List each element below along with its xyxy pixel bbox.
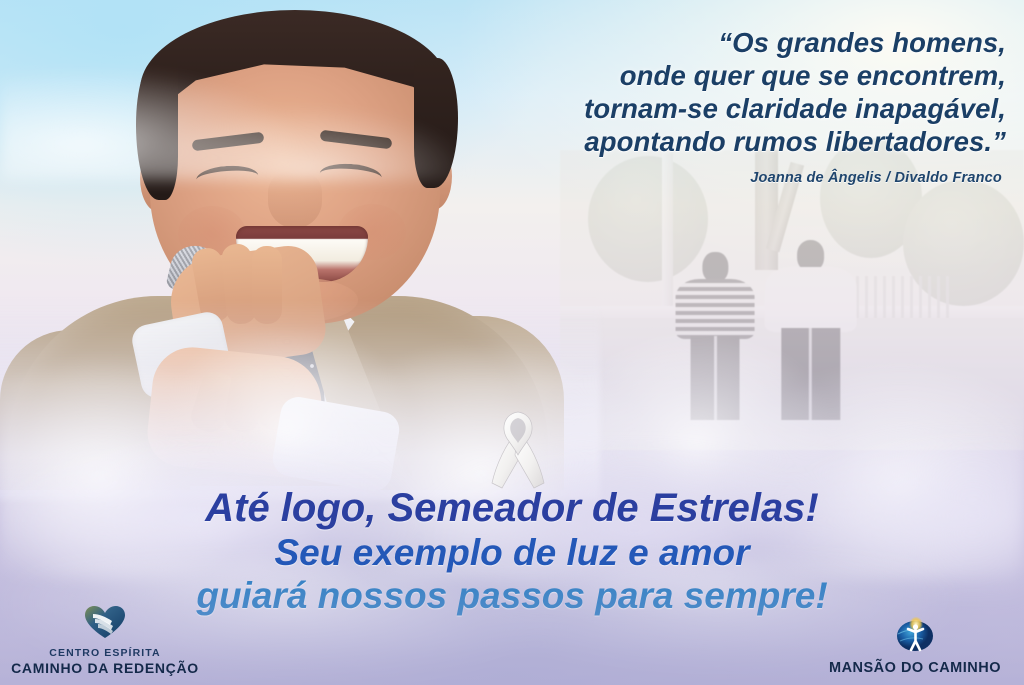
quote-text: “Os grandes homens, onde quer que se enc… <box>406 26 1006 158</box>
quote-line-3: tornam-se claridade inapagável, <box>406 92 1006 125</box>
headline-line-2: Seu exemplo de luz e amor <box>0 531 1024 574</box>
logo-left-line-2: CAMINHO DA REDENÇÃO <box>10 660 200 677</box>
figure-child <box>676 252 755 420</box>
headline: Até logo, Semeador de Estrelas! Seu exem… <box>0 486 1024 617</box>
logo-left-line-1: CENTRO ESPÍRITA <box>10 647 200 660</box>
quote-line-1: “Os grandes homens, <box>406 26 1006 59</box>
memorial-poster: “Os grandes homens, onde quer que se enc… <box>0 0 1024 685</box>
figure-adult <box>764 240 857 420</box>
logo-mansao-do-caminho: MANSÃO DO CAMINHO <box>810 616 1020 677</box>
logo-centro-espirita: CENTRO ESPÍRITA CAMINHO DA REDENÇÃO <box>10 605 200 677</box>
heart-hands-icon <box>10 605 200 644</box>
mourning-ribbon-icon <box>489 409 547 489</box>
quote-credit: Joanna de Ângelis / Divaldo Franco <box>402 170 1002 186</box>
quote-line-4: apontando rumos libertadores.” <box>406 125 1006 158</box>
globe-figure-icon <box>810 616 1020 657</box>
headline-line-1: Até logo, Semeador de Estrelas! <box>0 486 1024 531</box>
logo-right-line-2: MANSÃO DO CAMINHO <box>810 660 1020 677</box>
quote-line-2: onde quer que se encontrem, <box>406 59 1006 92</box>
two-people-walking-photo <box>560 150 1024 450</box>
